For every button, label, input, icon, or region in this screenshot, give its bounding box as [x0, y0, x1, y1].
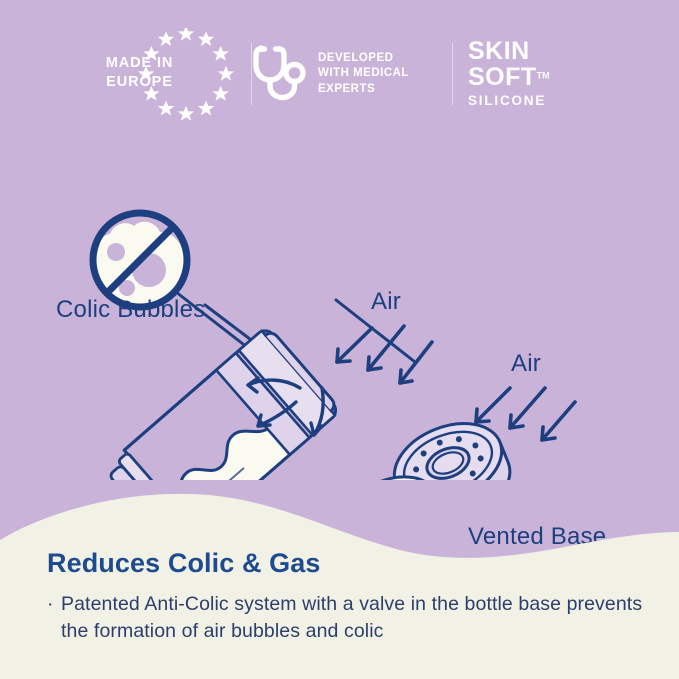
badge-skin-line2: SOFT: [468, 64, 537, 90]
air-arrow-icon: [337, 326, 432, 383]
badge-made-in-europe-text: MADE IN EUROPE: [84, 54, 196, 92]
badge-eu-line1: MADE IN: [84, 54, 196, 73]
badge-medical-line3: EXPERTS: [318, 82, 409, 98]
badge-eu-line2: EUROPE: [84, 73, 196, 92]
trademark-symbol: TM: [537, 71, 550, 81]
badge-medical-line1: DEVELOPED: [318, 51, 409, 67]
diagram-label-colic-bubbles: Colic Bubbles: [56, 296, 205, 324]
product-feature-infographic: MADE IN EUROPE: [0, 0, 679, 679]
bullet-marker: ·: [47, 591, 54, 618]
badge-medical-text: DEVELOPED WITH MEDICAL EXPERTS: [318, 51, 409, 98]
footer-text-block: Reduces Colic & Gas · Patented Anti-Coli…: [47, 548, 647, 645]
diagram-label-air-right: Air: [511, 350, 541, 378]
badge-made-in-europe: MADE IN EUROPE: [76, 28, 251, 120]
diagram-label-air-top: Air: [371, 288, 401, 316]
footer-headline: Reduces Colic & Gas: [47, 548, 647, 579]
baby-bottle-icon: [76, 326, 341, 481]
no-colic-bubbles-icon: [93, 213, 187, 308]
badge-skin-line1: SKIN: [468, 38, 588, 64]
badge-skin-soft-silicone: SKIN SOFTTM SILICONE: [453, 28, 603, 120]
footer-bullet-text: Patented Anti-Colic system with a valve …: [61, 593, 642, 642]
badge-skin-line3: SILICONE: [468, 91, 588, 110]
footer-bullet-item: · Patented Anti-Colic system with a valv…: [47, 591, 647, 645]
badge-row: MADE IN EUROPE: [0, 28, 679, 120]
stethoscope-icon: [252, 43, 308, 105]
anti-colic-diagram: Colic Bubbles Air Air Valve Vented Base: [0, 130, 679, 480]
badge-medical-line2: WITH MEDICAL: [318, 66, 409, 82]
badge-developed-with-medical-experts: DEVELOPED WITH MEDICAL EXPERTS: [252, 28, 452, 120]
